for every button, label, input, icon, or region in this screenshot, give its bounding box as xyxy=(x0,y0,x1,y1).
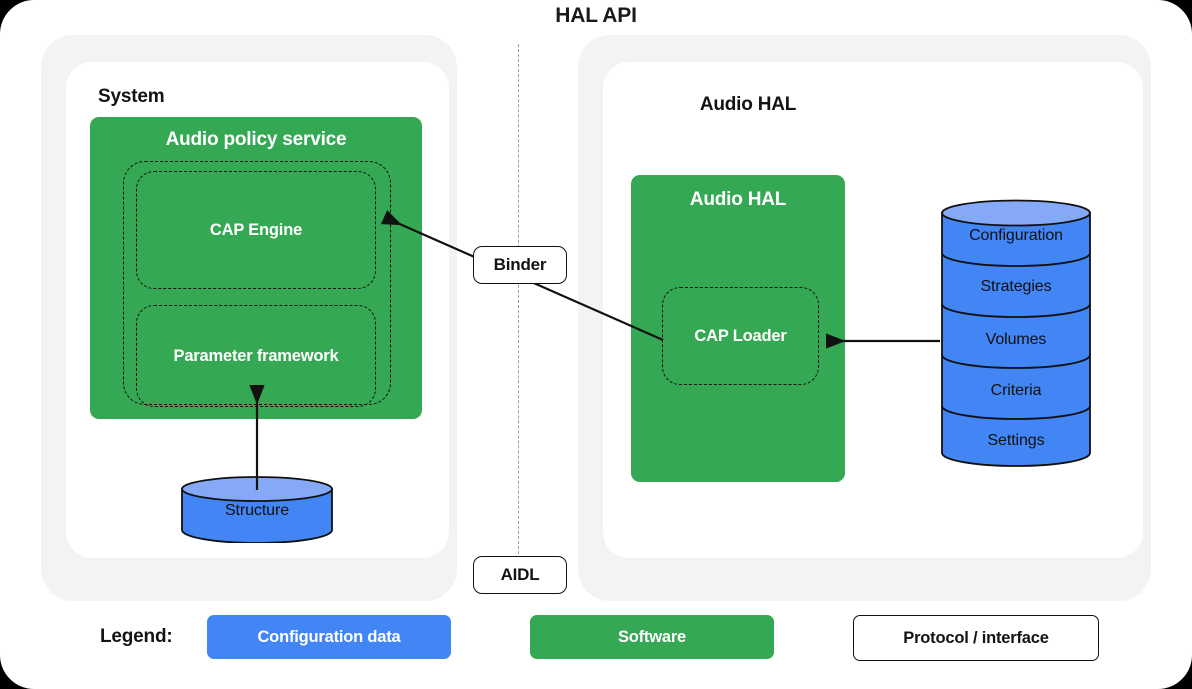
legend-chip-protocol-interface: Protocol / interface xyxy=(853,615,1099,661)
configuration-datastore-stack: Configuration Strategies Volumes Criteri… xyxy=(940,199,1092,468)
hal-api-boundary-divider xyxy=(518,44,519,564)
stack-segment-label-strategies: Strategies xyxy=(940,278,1092,296)
aidl-interface-pill[interactable]: AIDL xyxy=(473,556,567,594)
audio-policy-service-block: Audio policy service CAP Engine Paramete… xyxy=(90,117,422,419)
legend-label: Legend: xyxy=(100,626,173,648)
stack-segment-label-configuration: Configuration xyxy=(940,227,1092,245)
structure-datastore: Structure xyxy=(180,476,334,543)
cap-engine-box: CAP Engine xyxy=(136,171,376,289)
legend-chip-software: Software xyxy=(530,615,774,659)
legend-chip-configuration-data: Configuration data xyxy=(207,615,451,659)
legend: Legend: Configuration data Software Prot… xyxy=(0,612,1192,664)
diagram-card: HAL API System Audio policy service CAP … xyxy=(0,0,1192,689)
audio-hal-panel-heading: Audio HAL xyxy=(603,94,893,116)
parameter-framework-box: Parameter framework xyxy=(136,305,376,407)
page-title: HAL API xyxy=(0,4,1192,28)
stack-segment-label-volumes: Volumes xyxy=(940,331,1092,349)
structure-label: Structure xyxy=(180,502,334,520)
binder-interface-pill[interactable]: Binder xyxy=(473,246,567,284)
cap-loader-box: CAP Loader xyxy=(662,287,819,385)
audio-hal-block-title: Audio HAL xyxy=(631,189,845,211)
system-panel-heading: System xyxy=(98,86,164,108)
audio-hal-software-block: Audio HAL CAP Loader xyxy=(631,175,845,482)
audio-policy-service-title: Audio policy service xyxy=(90,129,422,151)
stack-segment-label-settings: Settings xyxy=(940,432,1092,450)
stack-segment-label-criteria: Criteria xyxy=(940,382,1092,400)
